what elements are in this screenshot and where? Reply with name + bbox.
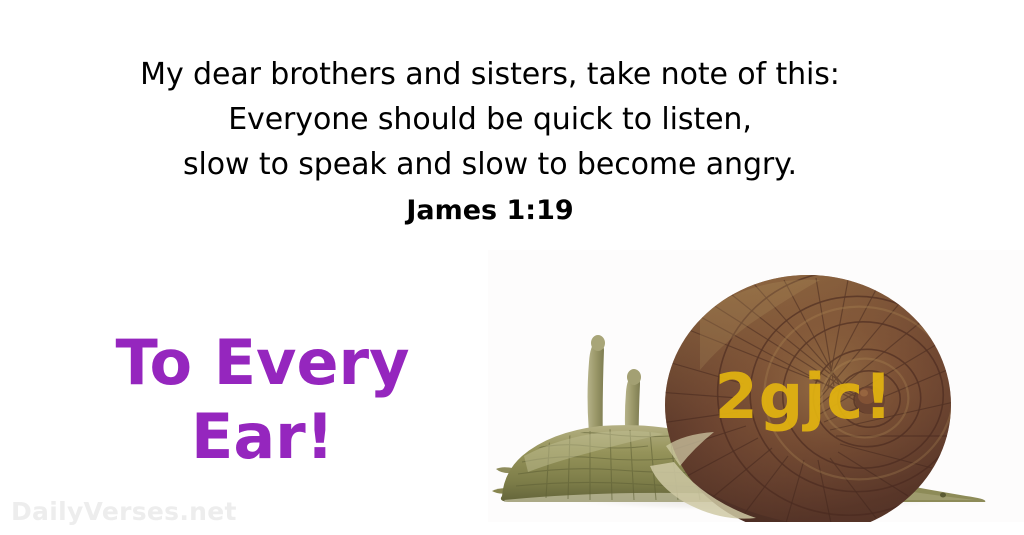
verse-block: My dear brothers and sisters, take note … xyxy=(0,52,980,233)
headline-line-1: To Every xyxy=(60,326,465,400)
watermark: DailyVerses.net xyxy=(11,497,237,526)
headline: To Every Ear! xyxy=(60,326,465,474)
snail-photo: 2gjc! xyxy=(488,250,1024,522)
headline-line-2: Ear! xyxy=(60,400,465,474)
shell-overlay-text: 2gjc! xyxy=(715,360,894,433)
verse-reference: James 1:19 xyxy=(0,189,980,233)
verse-line-2: Everyone should be quick to listen, xyxy=(0,97,980,142)
verse-image-canvas: My dear brothers and sisters, take note … xyxy=(0,0,1024,535)
verse-line-1: My dear brothers and sisters, take note … xyxy=(0,52,980,97)
verse-line-3: slow to speak and slow to become angry. xyxy=(0,142,980,187)
